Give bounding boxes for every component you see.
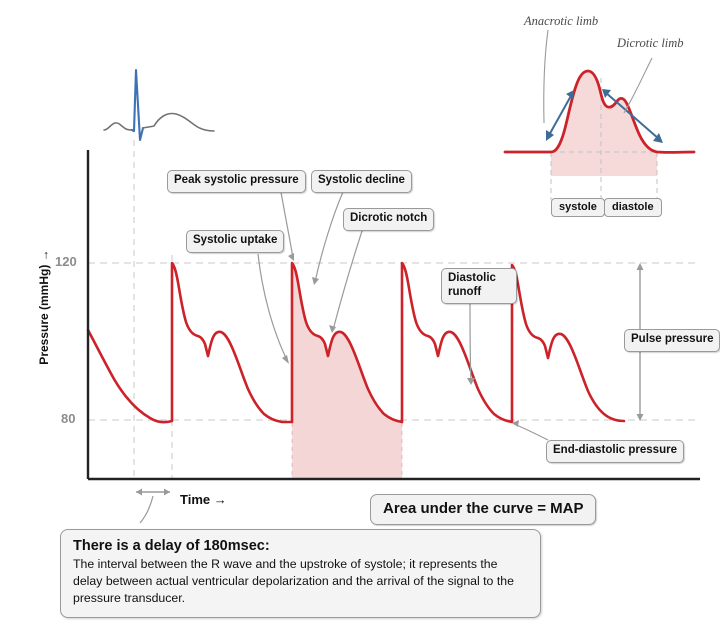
y-axis-title: Pressure (mmHg) → (37, 237, 51, 377)
inset-label-anacrotic-limb: Anacrotic limb (524, 14, 598, 29)
callout-peak-systolic-pressure: Peak systolic pressure (167, 170, 306, 193)
callout-diastolic-runoff-line1: Diastolic (448, 272, 496, 284)
callout-end-diastolic-pressure: End-diastolic pressure (546, 440, 684, 463)
callout-map: Area under the curve = MAP (370, 494, 596, 525)
x-axis-title: Time → (180, 492, 227, 507)
callout-systolic-uptake: Systolic uptake (186, 230, 284, 253)
delay-note-box: There is a delay of 180msec: The interva… (60, 529, 541, 618)
callout-systolic-decline: Systolic decline (311, 170, 412, 193)
callout-diastolic-runoff-line2: runoff (448, 286, 481, 298)
leader-dicrotic (624, 58, 652, 113)
figure-canvas: Pressure (mmHg) → Time → 120 80 Systolic… (0, 0, 720, 626)
inset-label-dicrotic-limb: Dicrotic limb (617, 36, 684, 51)
callout-dicrotic-notch: Dicrotic notch (343, 208, 434, 231)
delay-note-body: The interval between the R wave and the … (73, 556, 528, 607)
delay-note-title: There is a delay of 180msec: (73, 538, 528, 554)
callout-diastolic-runoff: Diastolic runoff (441, 268, 517, 304)
callout-pulse-pressure: Pulse pressure (624, 329, 720, 352)
inset-phase-diastole: diastole (604, 198, 662, 217)
y-tick-80: 80 (61, 411, 75, 426)
inset-phase-systole: systole (551, 198, 605, 217)
leader-anacrotic (544, 30, 548, 123)
y-tick-120: 120 (55, 254, 77, 269)
